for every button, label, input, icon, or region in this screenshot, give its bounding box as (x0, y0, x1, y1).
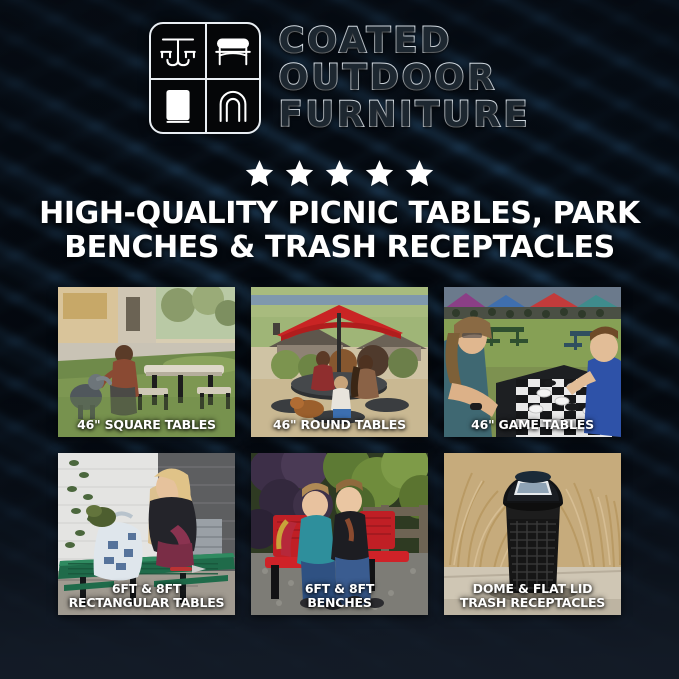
product-tile[interactable]: 6FT & 8FT BENCHES (251, 453, 428, 615)
product-caption-line-1: 46" ROUND TABLES (254, 418, 425, 432)
product-tile[interactable]: DOME & FLAT LID TRASH RECEPTACLES (444, 453, 621, 615)
bench-icon (205, 24, 259, 78)
product-photo-game-tables (444, 287, 621, 437)
product-photo-square-tables (58, 287, 235, 437)
product-caption-line-1: 6FT & 8FT (254, 582, 425, 596)
star-icon (364, 158, 395, 189)
brand-logo-mark (149, 22, 261, 134)
trash-receptacle-icon (151, 78, 205, 132)
product-caption: DOME & FLAT LID TRASH RECEPTACLES (444, 582, 621, 610)
product-caption: 46" GAME TABLES (444, 418, 621, 432)
product-caption: 6FT & 8FT RECTANGULAR TABLES (58, 582, 235, 610)
page-title: HIGH-QUALITY PICNIC TABLES, PARK BENCHES… (0, 197, 679, 264)
wordmark-line-2: OUTDOOR (279, 60, 531, 96)
product-tile[interactable]: 6FT & 8FT RECTANGULAR TABLES (58, 453, 235, 615)
product-caption-line-1: 6FT & 8FT (61, 582, 232, 596)
product-photo-round-tables (251, 287, 428, 437)
star-icon (324, 158, 355, 189)
promo-poster: COATED OUTDOOR FURNITURE HIGH-QUALITY PI… (0, 0, 679, 679)
star-rating (0, 158, 679, 189)
product-caption: 6FT & 8FT BENCHES (251, 582, 428, 610)
headline-line-1: HIGH-QUALITY PICNIC TABLES, PARK (0, 197, 679, 231)
product-grid: 46" SQUARE TABLES (58, 287, 621, 615)
brand-header: COATED OUTDOOR FURNITURE (0, 22, 679, 134)
picnic-table-icon (151, 24, 205, 78)
product-caption-line-2: TRASH RECEPTACLES (447, 596, 618, 610)
wordmark-line-3: FURNITURE (279, 97, 531, 133)
wordmark-line-1: COATED (279, 23, 531, 59)
arch-bike-rack-icon (205, 78, 259, 132)
product-tile[interactable]: 46" SQUARE TABLES (58, 287, 235, 437)
product-tile[interactable]: 46" GAME TABLES (444, 287, 621, 437)
product-caption-line-2: RECTANGULAR TABLES (61, 596, 232, 610)
star-icon (244, 158, 275, 189)
product-caption-line-2: BENCHES (254, 596, 425, 610)
star-icon (284, 158, 315, 189)
product-caption-line-1: 46" GAME TABLES (447, 418, 618, 432)
brand-wordmark: COATED OUTDOOR FURNITURE (279, 23, 531, 133)
product-caption: 46" SQUARE TABLES (58, 418, 235, 432)
headline-line-2: BENCHES & TRASH RECEPTACLES (0, 231, 679, 265)
product-caption-line-1: 46" SQUARE TABLES (61, 418, 232, 432)
product-caption-line-1: DOME & FLAT LID (447, 582, 618, 596)
product-tile[interactable]: 46" ROUND TABLES (251, 287, 428, 437)
product-caption: 46" ROUND TABLES (251, 418, 428, 432)
star-icon (404, 158, 435, 189)
